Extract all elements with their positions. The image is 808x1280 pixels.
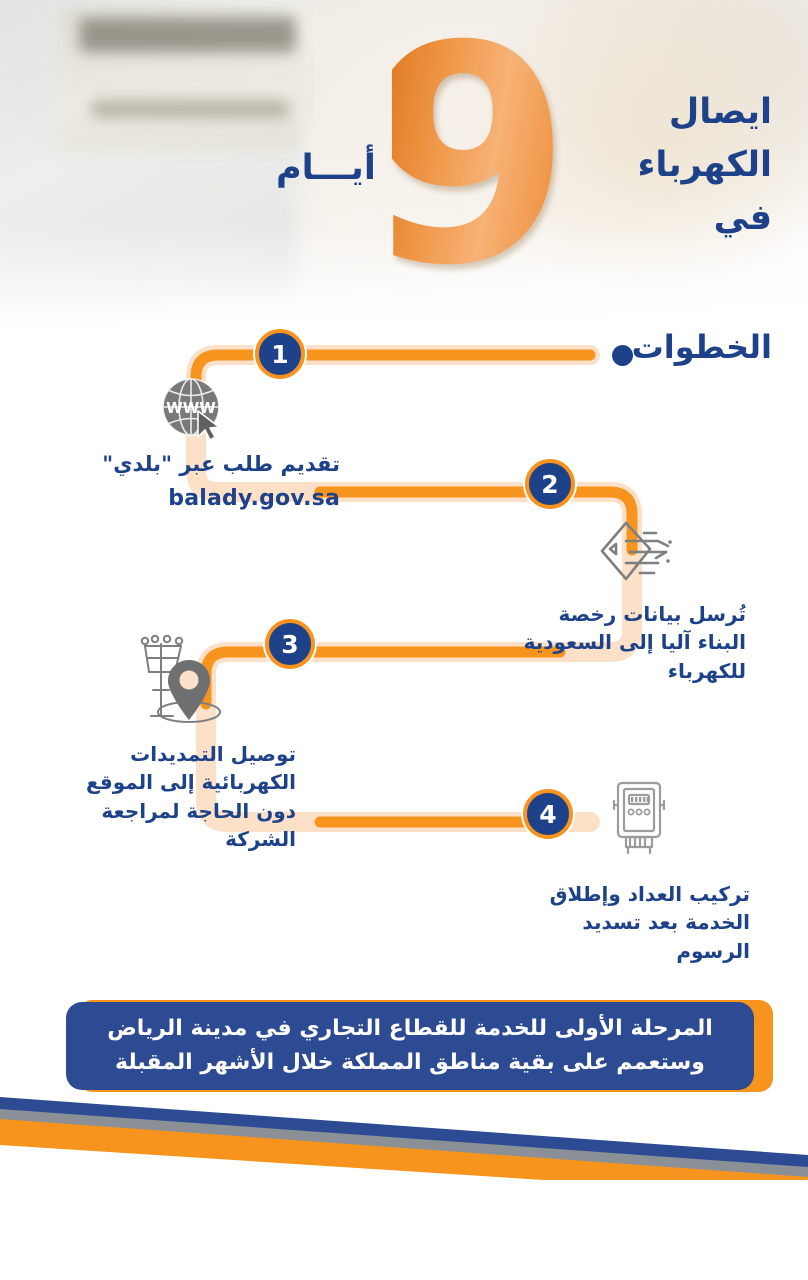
banner-line-2: وستعمم على بقية مناطق المملكة خلال الأشه… — [115, 1046, 705, 1080]
hero-title: ايصال الكهرباء في — [567, 86, 772, 246]
document-send-icon — [596, 519, 682, 591]
step-badge-3[interactable]: 3 — [265, 619, 315, 669]
meter-photo-stripe — [90, 100, 290, 118]
hero-days-label: أيـــام — [276, 148, 376, 188]
big-number-nine: 9 — [392, 28, 572, 296]
path-segment-2 — [320, 492, 632, 550]
steps-heading-dot — [612, 345, 633, 366]
step-1-url[interactable]: balady.gov.sa — [72, 483, 340, 514]
banner-line-1: المرحلة الأولى للخدمة للقطاع التجاري في … — [107, 1012, 713, 1046]
step-text-1: تقديم طلب عبر "بلدي" balady.gov.sa — [72, 450, 340, 514]
step-badge-1[interactable]: 1 — [255, 329, 305, 379]
footer: الشركة السعودية للكهرباء Saudi Electrici… — [0, 1180, 808, 1280]
step-badge-2[interactable]: 2 — [525, 459, 575, 509]
info-banner: المرحلة الأولى للخدمة للقطاع التجاري في … — [66, 1002, 754, 1090]
steps-heading: الخطوات — [632, 328, 772, 366]
meter-photo-display — [80, 18, 295, 52]
infographic-page: 9 ايصال الكهرباء في أيـــام الخطوات 1 2 … — [0, 0, 808, 1280]
hero-title-line1: ايصال — [567, 86, 772, 139]
electricity-meter-icon — [608, 779, 670, 857]
step-1-label: تقديم طلب عبر "بلدي" — [102, 452, 340, 476]
step-text-3: توصيل التمديدات الكهربائية إلى الموقع دو… — [56, 740, 296, 854]
globe-www-cursor-icon: WWW — [158, 374, 232, 448]
step-badge-4[interactable]: 4 — [523, 789, 573, 839]
svg-text:WWW: WWW — [166, 399, 216, 417]
step-text-2: تُرسل بيانات رخصة البناء آليا إلى السعود… — [506, 600, 746, 685]
hero-title-line2: الكهرباء — [567, 139, 772, 192]
hero-title-line3: في — [567, 192, 772, 245]
power-pole-location-pin-icon — [131, 632, 237, 728]
step-text-4: تركيب العداد وإطلاق الخدمة بعد تسديد الر… — [530, 880, 750, 965]
